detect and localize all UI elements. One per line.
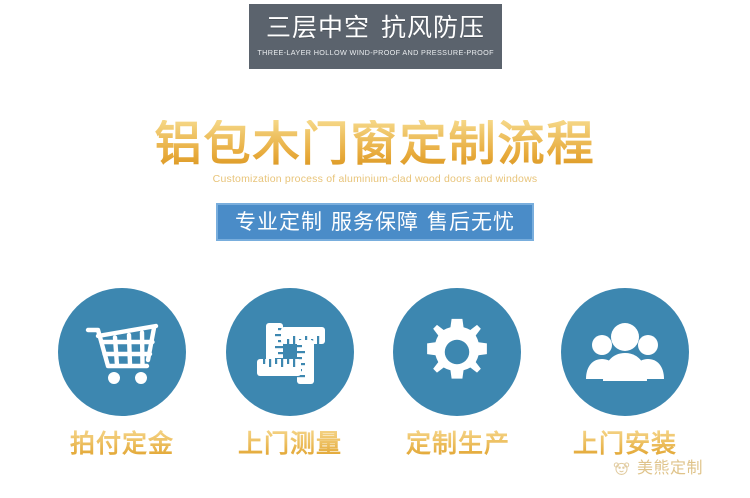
people-group-icon <box>586 319 664 385</box>
process-step-2 <box>226 288 354 416</box>
brand-logo-icon <box>612 459 631 478</box>
service-promise-banner: 专业定制服务保障售后无忧 <box>216 203 534 241</box>
top-banner-chinese-text: 三层中空抗风防压 <box>266 16 485 41</box>
step-2-circle <box>226 288 354 416</box>
promise-item-3: 售后无忧 <box>427 211 515 234</box>
top-banner-chinese-part1: 三层中空 <box>266 14 370 42</box>
top-feature-banner: 三层中空抗风防压 THREE-LAYER HOLLOW WIND-PROOF A… <box>249 4 502 69</box>
step-4-label: 上门安装 <box>540 428 710 461</box>
top-banner-english-text: THREE-LAYER HOLLOW WIND-PROOF AND PRESSU… <box>257 48 493 57</box>
step-1-label: 拍付定金 <box>37 428 207 461</box>
step-1-circle <box>58 288 186 416</box>
page-title: 铝包木门窗定制流程 <box>0 120 750 167</box>
gear-icon <box>421 316 493 388</box>
step-4-circle <box>561 288 689 416</box>
process-step-1 <box>58 288 186 416</box>
watermark-text: 美熊定制 <box>637 461 703 477</box>
watermark: 美熊定制 <box>612 459 703 478</box>
measuring-ruler-icon <box>253 315 327 389</box>
process-step-3 <box>393 288 521 416</box>
promise-item-1: 专业定制 <box>235 211 323 234</box>
top-banner-chinese-part2: 抗风防压 <box>381 14 485 42</box>
promise-item-2: 服务保障 <box>331 211 419 234</box>
step-3-circle <box>393 288 521 416</box>
process-steps-row <box>0 288 750 420</box>
step-3-label: 定制生产 <box>373 428 543 461</box>
step-2-label: 上门测量 <box>205 428 375 461</box>
shopping-cart-icon <box>84 316 160 388</box>
process-step-4 <box>561 288 689 416</box>
poster-canvas: 三层中空抗风防压 THREE-LAYER HOLLOW WIND-PROOF A… <box>0 0 750 498</box>
page-subtitle: Customization process of aluminium-clad … <box>0 173 750 185</box>
service-promise-text: 专业定制服务保障售后无忧 <box>235 212 515 233</box>
